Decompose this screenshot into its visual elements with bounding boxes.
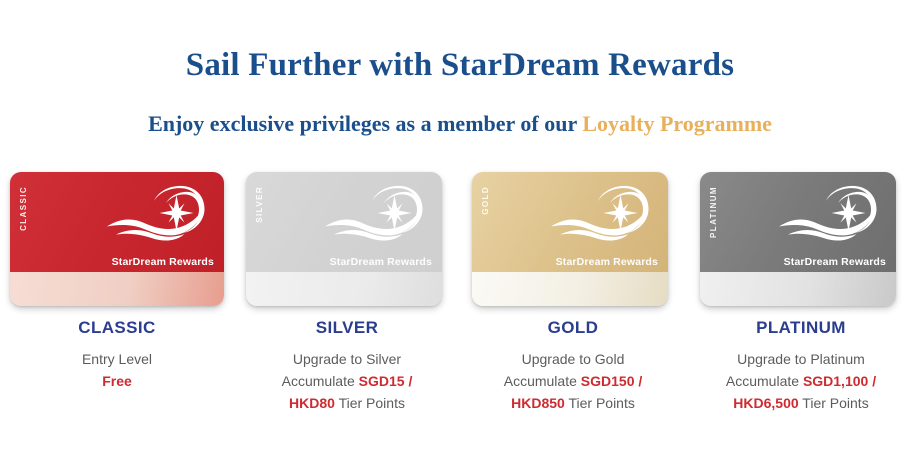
tier-card-row: CLASSIC StarDream Rewards (0, 170, 920, 315)
card-vertical-label: PLATINUM (709, 186, 718, 238)
page-subtitle: Enjoy exclusive privileges as a member o… (0, 111, 920, 137)
tier-requirement-line-1: Accumulate SGD15 / (232, 370, 462, 392)
compass-star-wave-logo-icon (85, 178, 217, 250)
accumulate-label: Accumulate (726, 373, 803, 389)
tier-amount-hkd: HKD6,500 (733, 395, 798, 411)
membership-card[interactable]: CLASSIC StarDream Rewards (10, 172, 224, 306)
card-face: CLASSIC StarDream Rewards (10, 172, 224, 272)
compass-star-wave-logo-icon (303, 178, 435, 250)
tier-info-row: CLASSIC Entry Level Free SILVER Upgrade … (0, 318, 920, 428)
tier-card-silver[interactable]: SILVER StarDream Rewards (232, 170, 462, 315)
tier-description-line: Entry Level (2, 348, 232, 370)
membership-card[interactable]: PLATINUM StarDream Rewards (700, 172, 896, 306)
amount-separator: / (634, 373, 642, 389)
tier-title: CLASSIC (2, 318, 232, 338)
membership-card[interactable]: GOLD StarDream Rewards (472, 172, 668, 306)
card-face: GOLD StarDream Rewards (472, 172, 668, 272)
tier-amount-sgd: SGD15 (359, 373, 405, 389)
tier-card-classic[interactable]: CLASSIC StarDream Rewards (2, 170, 232, 315)
amount-separator: / (868, 373, 876, 389)
tier-amount-hkd: HKD850 (511, 395, 565, 411)
card-bottom-strip (472, 272, 668, 306)
card-bottom-strip (246, 272, 442, 306)
tier-requirement-line-1: Accumulate SGD150 / (458, 370, 688, 392)
tier-card-platinum[interactable]: PLATINUM StarDream Rewards (686, 170, 916, 315)
membership-card[interactable]: SILVER StarDream Rewards (246, 172, 442, 306)
card-face: SILVER StarDream Rewards (246, 172, 442, 272)
tier-description-line: Upgrade to Gold (458, 348, 688, 370)
tier-info-classic: CLASSIC Entry Level Free (2, 318, 232, 392)
tier-title: SILVER (232, 318, 462, 338)
tier-info-silver: SILVER Upgrade to Silver Accumulate SGD1… (232, 318, 462, 414)
tier-requirement-line-2: HKD850 Tier Points (458, 392, 688, 414)
tier-title: PLATINUM (686, 318, 916, 338)
compass-star-wave-logo-icon (757, 178, 889, 250)
subtitle-accent-loyalty-programme: Loyalty Programme (582, 111, 772, 136)
tier-description-line: Upgrade to Platinum (686, 348, 916, 370)
tier-price: Free (2, 370, 232, 392)
tier-card-gold[interactable]: GOLD StarDream Rewards (458, 170, 688, 315)
tier-points-label: Tier Points (565, 395, 635, 411)
card-bottom-strip (700, 272, 896, 306)
tier-amount-sgd: SGD1,100 (803, 373, 868, 389)
card-vertical-label: CLASSIC (19, 186, 28, 231)
tier-info-platinum: PLATINUM Upgrade to Platinum Accumulate … (686, 318, 916, 414)
tier-title: GOLD (458, 318, 688, 338)
compass-star-wave-logo-icon (529, 178, 661, 250)
card-face: PLATINUM StarDream Rewards (700, 172, 896, 272)
card-brand-text: StarDream Rewards (784, 256, 886, 268)
card-vertical-label: GOLD (481, 186, 490, 215)
tier-description-line: Upgrade to Silver (232, 348, 462, 370)
subtitle-prefix: Enjoy exclusive privileges as a member o… (148, 111, 582, 136)
card-brand-text: StarDream Rewards (556, 256, 658, 268)
tier-amount-hkd: HKD80 (289, 395, 335, 411)
card-bottom-strip (10, 272, 224, 306)
amount-separator: / (405, 373, 413, 389)
accumulate-label: Accumulate (504, 373, 581, 389)
tier-info-gold: GOLD Upgrade to Gold Accumulate SGD150 /… (458, 318, 688, 414)
tier-amount-sgd: SGD150 (581, 373, 635, 389)
tier-requirement-line-2: HKD80 Tier Points (232, 392, 462, 414)
card-brand-text: StarDream Rewards (330, 256, 432, 268)
tier-points-label: Tier Points (335, 395, 405, 411)
card-vertical-label: SILVER (255, 186, 264, 223)
loyalty-tiers-page: Sail Further with StarDream Rewards Enjo… (0, 0, 920, 460)
page-title: Sail Further with StarDream Rewards (0, 47, 920, 84)
accumulate-label: Accumulate (282, 373, 359, 389)
tier-points-label: Tier Points (799, 395, 869, 411)
tier-requirement-line-1: Accumulate SGD1,100 / (686, 370, 916, 392)
tier-requirement-line-2: HKD6,500 Tier Points (686, 392, 916, 414)
card-brand-text: StarDream Rewards (112, 256, 214, 268)
